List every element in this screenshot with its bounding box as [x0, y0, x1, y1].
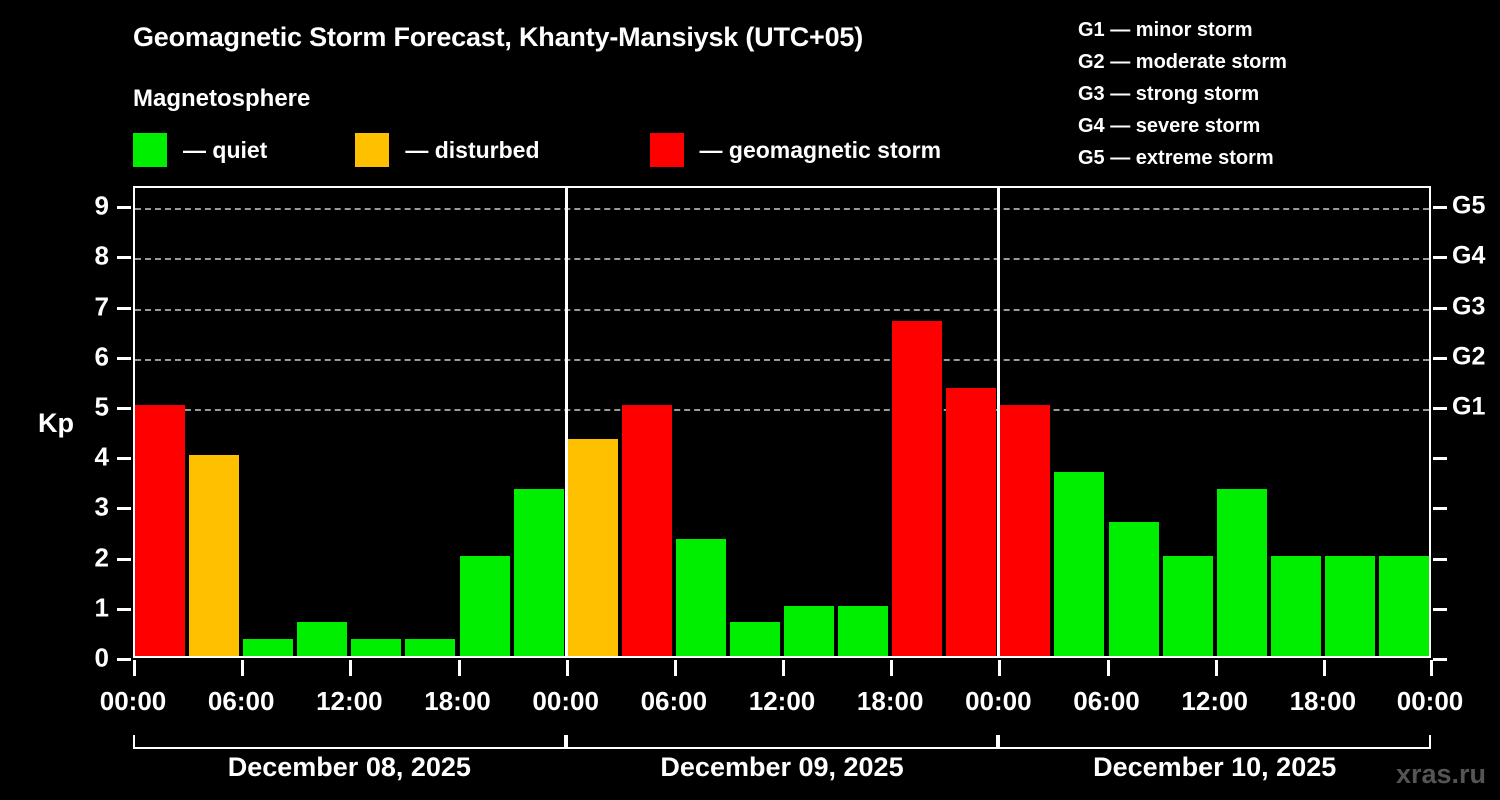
y-tick-label: 1	[69, 592, 109, 623]
disturbed-swatch	[355, 133, 389, 167]
bar-quiet	[784, 606, 834, 656]
x-tick-label: 18:00	[424, 686, 491, 717]
y-tick-label: 3	[69, 492, 109, 523]
bar-quiet	[1054, 472, 1104, 656]
magnetosphere-legend-item: — disturbed	[355, 132, 539, 168]
bar-quiet	[297, 622, 347, 656]
x-tick-mark	[566, 660, 569, 676]
magnetosphere-legend-label: — quiet	[183, 137, 267, 164]
bar-quiet	[838, 606, 888, 656]
bar-storm	[622, 405, 672, 656]
plot-area	[133, 186, 1431, 658]
bar-quiet	[514, 489, 564, 656]
x-tick-label: 18:00	[1290, 686, 1357, 717]
x-tick-mark	[241, 660, 244, 676]
x-tick-mark	[133, 660, 136, 676]
g-tick-mark	[1433, 206, 1447, 209]
g-tick-mark	[1433, 407, 1447, 410]
y-tick-label: 6	[69, 341, 109, 372]
x-tick-mark	[998, 660, 1001, 676]
g-scale-legend-row: G3 — strong storm	[1078, 78, 1287, 110]
y-tick-label: 8	[69, 241, 109, 272]
y-tick-mark	[117, 608, 131, 611]
x-tick-label: 00:00	[532, 686, 599, 717]
y-tick-mark	[117, 307, 131, 310]
g-tick-mark	[1433, 357, 1447, 360]
g-tick-label: G4	[1452, 242, 1485, 271]
bar-quiet	[1325, 556, 1375, 656]
gridline	[135, 309, 1429, 311]
day-bracket	[566, 735, 999, 749]
y-tick-mark	[117, 558, 131, 561]
right-minor-tick	[1433, 558, 1447, 561]
right-minor-tick	[1433, 457, 1447, 460]
gridline	[135, 208, 1429, 210]
day-label: December 09, 2025	[660, 752, 903, 783]
right-minor-tick	[1433, 507, 1447, 510]
bar-quiet	[351, 639, 401, 656]
g-tick-mark	[1433, 256, 1447, 259]
magnetosphere-legend-label: — geomagnetic storm	[700, 137, 942, 164]
x-tick-label: 00:00	[1397, 686, 1464, 717]
g-tick-label: G2	[1452, 342, 1485, 371]
g-tick-label: G1	[1452, 392, 1485, 421]
bar-quiet	[460, 556, 510, 656]
storm-swatch	[650, 133, 684, 167]
bar-storm	[135, 405, 185, 656]
bar-storm	[1000, 405, 1050, 656]
g-scale-legend-row: G5 — extreme storm	[1078, 142, 1287, 174]
gridline	[135, 359, 1429, 361]
y-tick-label: 9	[69, 191, 109, 222]
x-tick-label: 06:00	[208, 686, 275, 717]
x-tick-label: 12:00	[1181, 686, 1248, 717]
magnetosphere-legend-label: — disturbed	[405, 137, 539, 164]
g-scale-legend-row: G4 — severe storm	[1078, 110, 1287, 142]
bar-storm	[892, 321, 942, 656]
bar-quiet	[1163, 556, 1213, 656]
bar-quiet	[1217, 489, 1267, 656]
y-tick-mark	[117, 507, 131, 510]
magnetosphere-legend-item: — quiet	[133, 132, 267, 168]
x-tick-label: 06:00	[1073, 686, 1140, 717]
y-axis-label: Kp	[38, 408, 74, 439]
x-tick-mark	[1215, 660, 1218, 676]
x-tick-mark	[1323, 660, 1326, 676]
magnetosphere-legend: — quiet— disturbed— geomagnetic storm	[133, 132, 941, 168]
y-tick-mark	[117, 357, 131, 360]
g-tick-label: G3	[1452, 292, 1485, 321]
x-tick-mark	[890, 660, 893, 676]
magnetosphere-heading: Magnetosphere	[133, 85, 310, 113]
bar-disturbed	[568, 439, 618, 656]
day-separator	[997, 188, 1000, 656]
bar-quiet	[1271, 556, 1321, 656]
bar-quiet	[405, 639, 455, 656]
day-bracket	[133, 735, 566, 749]
day-separator	[565, 188, 568, 656]
y-tick-mark	[117, 658, 131, 661]
day-label: December 08, 2025	[228, 752, 471, 783]
y-tick-label: 5	[69, 391, 109, 422]
y-tick-mark	[117, 457, 131, 460]
day-bracket	[998, 735, 1431, 749]
x-tick-label: 00:00	[965, 686, 1032, 717]
chart-root: Geomagnetic Storm Forecast, Khanty-Mansi…	[0, 0, 1500, 800]
page-title: Geomagnetic Storm Forecast, Khanty-Mansi…	[133, 22, 863, 53]
bar-quiet	[1109, 522, 1159, 656]
bar-quiet	[243, 639, 293, 656]
x-tick-mark	[782, 660, 785, 676]
g-tick-label: G5	[1452, 192, 1485, 221]
bar-quiet	[730, 622, 780, 656]
bar-storm	[946, 388, 996, 656]
x-tick-mark	[1107, 660, 1110, 676]
g-scale-legend-row: G1 — minor storm	[1078, 14, 1287, 46]
x-tick-mark	[674, 660, 677, 676]
g-scale-legend: G1 — minor stormG2 — moderate stormG3 — …	[1078, 14, 1287, 174]
bar-quiet	[676, 539, 726, 656]
x-tick-label: 06:00	[641, 686, 708, 717]
x-tick-label: 18:00	[857, 686, 924, 717]
gridline	[135, 258, 1429, 260]
gridline	[135, 409, 1429, 411]
y-tick-label: 7	[69, 291, 109, 322]
y-tick-mark	[117, 256, 131, 259]
x-tick-label: 12:00	[316, 686, 383, 717]
x-tick-label: 12:00	[749, 686, 816, 717]
g-tick-mark	[1433, 307, 1447, 310]
bar-disturbed	[189, 455, 239, 656]
day-label: December 10, 2025	[1093, 752, 1336, 783]
x-tick-mark	[458, 660, 461, 676]
g-scale-legend-row: G2 — moderate storm	[1078, 46, 1287, 78]
y-tick-label: 2	[69, 542, 109, 573]
right-minor-tick	[1433, 658, 1447, 661]
plot-inner	[135, 188, 1429, 656]
x-tick-mark	[349, 660, 352, 676]
quiet-swatch	[133, 133, 167, 167]
magnetosphere-legend-item: — geomagnetic storm	[650, 132, 942, 168]
y-tick-label: 4	[69, 442, 109, 473]
y-tick-mark	[117, 206, 131, 209]
y-tick-mark	[117, 407, 131, 410]
bar-quiet	[1379, 556, 1429, 656]
x-tick-mark	[1430, 660, 1433, 676]
right-minor-tick	[1433, 608, 1447, 611]
watermark: xras.ru	[1396, 759, 1486, 790]
x-tick-label: 00:00	[100, 686, 167, 717]
y-tick-label: 0	[69, 643, 109, 674]
